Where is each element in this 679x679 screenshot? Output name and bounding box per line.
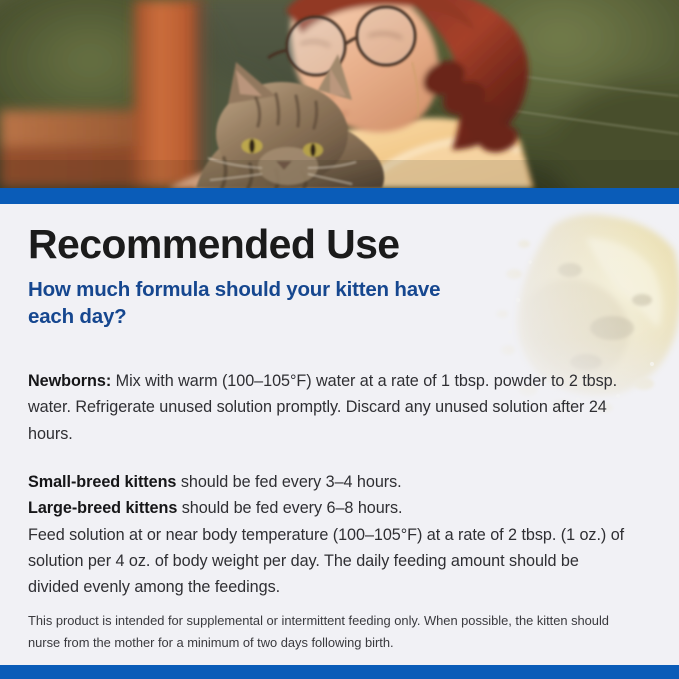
feeding-rate-text: Feed solution at or near body temperatur… (28, 526, 624, 596)
hero-photo-woman-with-kitten (0, 0, 679, 188)
large-breed-label: Large-breed kittens (28, 499, 177, 517)
disclaimer-text: This product is intended for supplementa… (28, 610, 628, 654)
small-breed-text: should be fed every 3–4 hours. (176, 473, 401, 491)
blue-divider-bar-top (0, 188, 679, 204)
large-breed-text: should be fed every 6–8 hours. (177, 499, 402, 517)
newborns-text: Mix with warm (100–105°F) water at a rat… (28, 372, 617, 442)
blue-divider-bar-bottom (0, 665, 679, 679)
section-subtitle: How much formula should your kitten have… (28, 276, 448, 330)
page-title: Recommended Use (28, 224, 400, 265)
recommended-use-section: Recommended Use How much formula should … (0, 204, 679, 665)
newborns-paragraph: Newborns: Mix with warm (100–105°F) wate… (28, 368, 628, 447)
newborns-label: Newborns: (28, 372, 111, 390)
small-breed-label: Small-breed kittens (28, 473, 176, 491)
product-info-page: Recommended Use How much formula should … (0, 0, 679, 679)
breeds-paragraph: Small-breed kittens should be fed every … (28, 469, 628, 600)
